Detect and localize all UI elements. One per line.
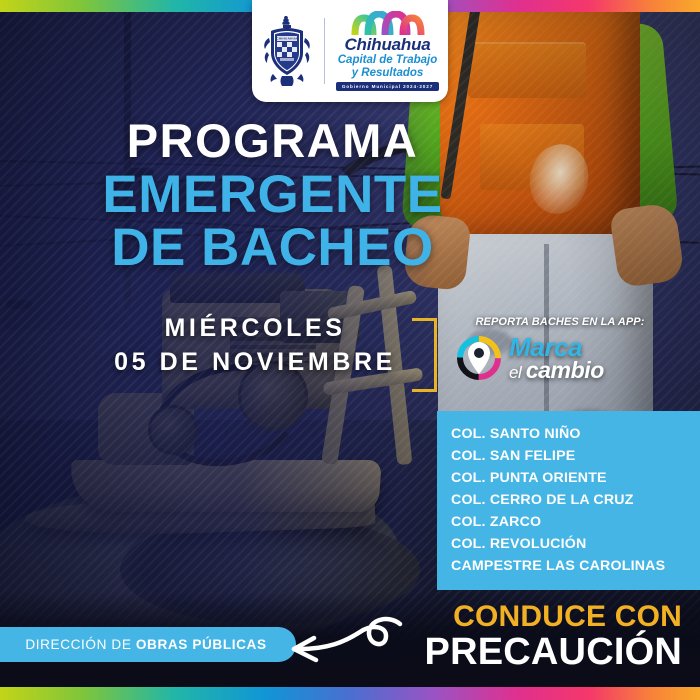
app-name-cambio: cambio — [526, 357, 604, 383]
title-line-3: DE BACHEO — [0, 221, 545, 274]
app-name-line-1: Marca — [509, 335, 604, 359]
app-call-to-action-label: REPORTA BACHES EN LA APP: — [455, 316, 665, 328]
list-item: COL. ZARCO — [451, 511, 700, 533]
title-line-2: EMERGENTE — [0, 168, 545, 221]
app-name-line-2: el cambio — [509, 360, 604, 381]
list-item: COL. CERRO DE LA CRUZ — [451, 489, 700, 511]
logo-divider — [324, 18, 325, 84]
list-item: COL. PUNTA ORIENTE — [451, 467, 700, 489]
brand-tagline-1: Capital de Trabajo — [338, 54, 437, 67]
svg-text:CHIHUAHUA: CHIHUAHUA — [276, 37, 298, 41]
brand-name: Chihuahua — [344, 36, 430, 53]
date-full: 05 DE NOVIEMBRE — [60, 346, 450, 380]
department-badge: DIRECCIÓN DE OBRAS PÚBLICAS — [0, 627, 296, 662]
poster-canvas: CHIHUAHUA — [0, 0, 700, 700]
safety-line-2: PRECAUCIÓN — [425, 633, 682, 672]
app-name: Marca el cambio — [509, 335, 604, 382]
bottom-rainbow-bar — [0, 687, 700, 700]
gold-bracket-decoration — [412, 318, 437, 392]
colonies-panel: COL. SANTO NIÑO COL. SAN FELIPE COL. PUN… — [437, 411, 700, 590]
chihuahua-coat-of-arms-icon: CHIHUAHUA — [259, 14, 315, 88]
list-item: CAMPESTRE LAS CAROLINAS — [451, 555, 700, 577]
government-period-label: Gobierno Municipal 2024-2027 — [336, 82, 439, 91]
chihuahua-brand-lockup: Chihuahua Capital de Trabajo y Resultado… — [334, 11, 442, 90]
list-item: COL. REVOLUCIÓN — [451, 533, 700, 555]
safety-message: CONDUCE CON PRECAUCIÓN — [425, 602, 682, 672]
curly-arrow-left-icon — [268, 608, 408, 678]
list-item: COL. SANTO NIÑO — [451, 423, 700, 445]
date-weekday: MIÉRCOLES — [60, 312, 450, 346]
location-pin-ring-icon — [455, 334, 503, 382]
chihuahua-arcs-icon — [351, 11, 425, 35]
event-date-block: MIÉRCOLES 05 DE NOVIEMBRE — [60, 312, 450, 380]
header-logo-card: CHIHUAHUA — [252, 0, 448, 102]
report-app-block: REPORTA BACHES EN LA APP: Marca el cambi… — [455, 316, 685, 382]
title-line-1: PROGRAMA — [0, 118, 545, 164]
safety-line-1: CONDUCE CON — [425, 602, 682, 632]
department-name: OBRAS PÚBLICAS — [136, 637, 267, 652]
brand-tagline-2: y Resultados — [352, 67, 424, 80]
marca-el-cambio-logo[interactable]: Marca el cambio — [455, 334, 685, 382]
department-prefix: DIRECCIÓN DE — [25, 637, 136, 652]
app-name-el: el — [509, 363, 526, 382]
department-label: DIRECCIÓN DE OBRAS PÚBLICAS — [25, 637, 266, 652]
poster-title-block: PROGRAMA EMERGENTE DE BACHEO — [0, 118, 545, 274]
list-item: COL. SAN FELIPE — [451, 445, 700, 467]
